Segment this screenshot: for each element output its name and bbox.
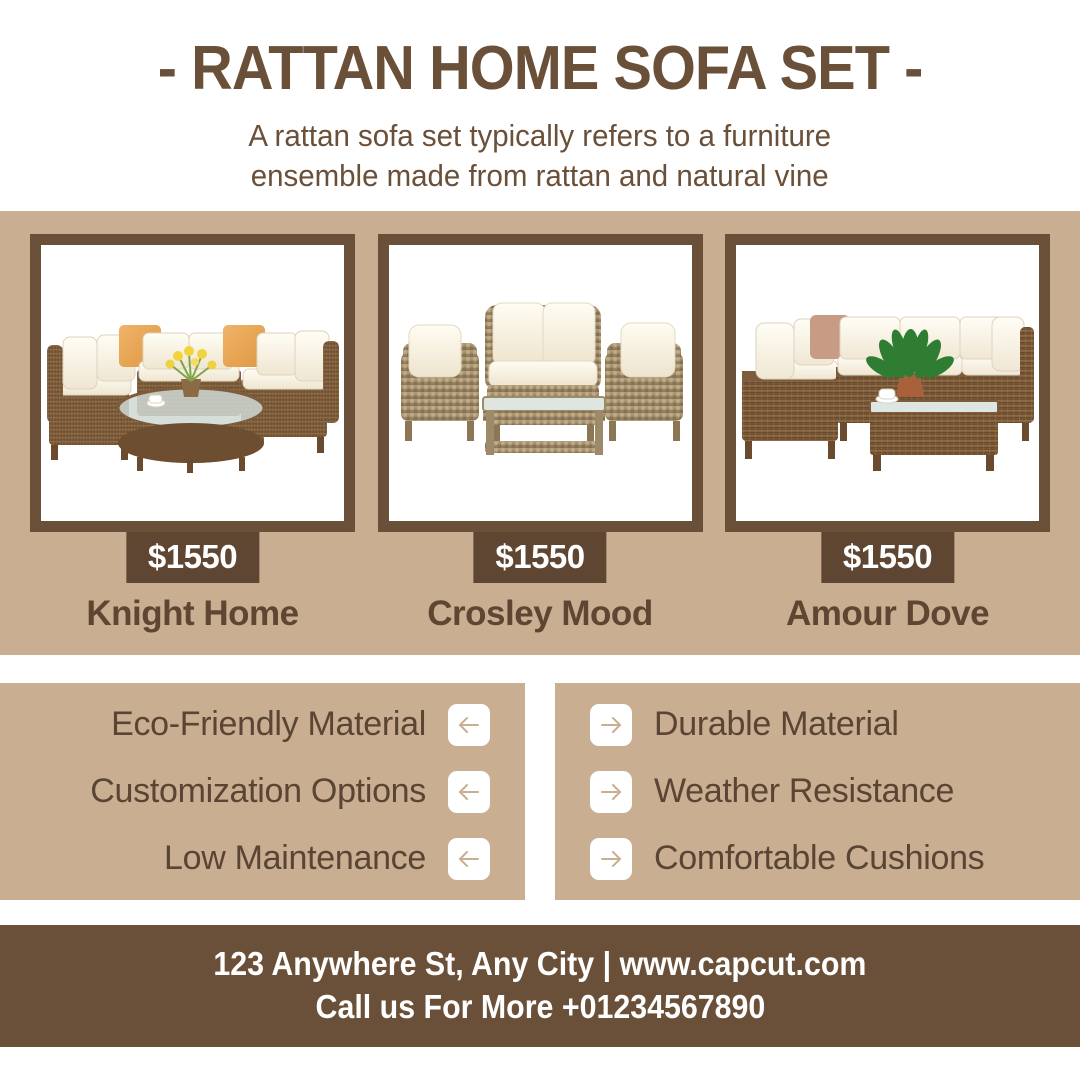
feature-label: Eco-Friendly Material — [111, 705, 426, 744]
product-photo-crosley-mood — [389, 245, 692, 521]
arrow-left-icon — [448, 838, 490, 880]
footer: 123 Anywhere St, Any City | www.capcut.c… — [0, 925, 1080, 1047]
feature-item[interactable]: Weather Resistance — [590, 758, 954, 825]
feature-item[interactable]: Comfortable Cushions — [590, 825, 984, 892]
page-subtitle: A rattan sofa set typically refers to a … — [249, 116, 832, 197]
footer-phone[interactable]: Call us For More +01234567890 — [315, 986, 765, 1029]
product-name: Amour Dove — [725, 594, 1050, 634]
arrow-left-icon — [448, 704, 490, 746]
product-panel: $1550 Knight Home — [0, 211, 1080, 655]
features-left-panel: Eco-Friendly Material Customization Opti… — [0, 683, 525, 900]
product-name: Knight Home — [30, 594, 355, 634]
arrow-right-icon — [590, 771, 632, 813]
product-price-badge: $1550 — [126, 532, 259, 583]
product-image-frame — [725, 234, 1050, 532]
feature-label: Weather Resistance — [654, 772, 954, 811]
features-right-panel: Durable Material Weather Resistance Comf… — [555, 683, 1080, 900]
feature-item[interactable]: Low Maintenance — [164, 825, 490, 892]
header: - RATTAN HOME SOFA SET - A rattan sofa s… — [0, 0, 1080, 211]
product-photo-amour-dove — [736, 245, 1039, 521]
arrow-left-icon — [448, 771, 490, 813]
product-card[interactable]: $1550 Amour Dove — [725, 234, 1050, 634]
product-name: Crosley Mood — [378, 594, 703, 634]
subtitle-line-1: A rattan sofa set typically refers to a … — [249, 116, 832, 156]
feature-item[interactable]: Customization Options — [90, 758, 490, 825]
feature-label: Low Maintenance — [164, 839, 426, 878]
product-price-badge: $1550 — [821, 532, 954, 583]
arrow-right-icon — [590, 704, 632, 746]
feature-label: Customization Options — [90, 772, 426, 811]
feature-label: Durable Material — [654, 705, 899, 744]
product-image-frame — [378, 234, 703, 532]
subtitle-line-2: ensemble made from rattan and natural vi… — [249, 156, 832, 196]
feature-label: Comfortable Cushions — [654, 839, 984, 878]
product-card[interactable]: $1550 Knight Home — [30, 234, 355, 634]
product-card[interactable]: $1550 Crosley Mood — [378, 234, 703, 634]
product-image-frame — [30, 234, 355, 532]
arrow-right-icon — [590, 838, 632, 880]
product-photo-knight-home — [41, 245, 344, 521]
product-price-badge: $1550 — [473, 532, 606, 583]
footer-address-and-website[interactable]: 123 Anywhere St, Any City | www.capcut.c… — [214, 943, 867, 986]
product-card-list: $1550 Knight Home — [30, 234, 1050, 634]
features-section: Eco-Friendly Material Customization Opti… — [0, 683, 1080, 900]
feature-item[interactable]: Eco-Friendly Material — [111, 691, 490, 758]
page-title: - RATTAN HOME SOFA SET - — [158, 38, 923, 100]
feature-item[interactable]: Durable Material — [590, 691, 899, 758]
